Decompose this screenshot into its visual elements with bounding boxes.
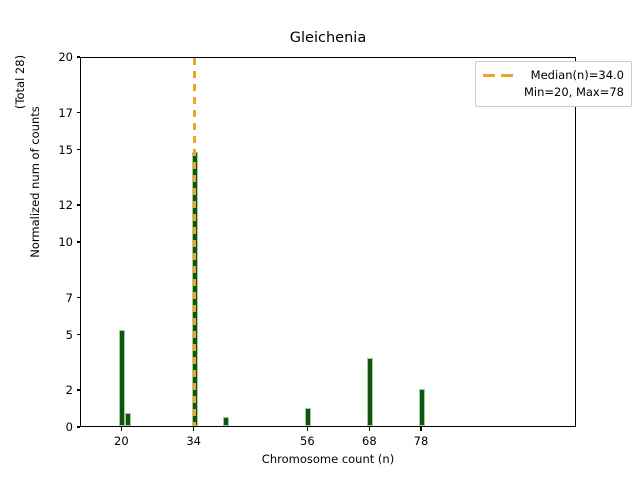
y-axis-label: Normalized num of counts — [28, 0, 42, 367]
x-tick-label: 56 — [277, 433, 337, 449]
y-tick-mark — [77, 56, 81, 57]
y-tick-label: 17 — [58, 105, 73, 121]
y-tick-mark — [77, 112, 81, 113]
x-tick-mark — [307, 427, 308, 431]
legend-entry-median: Median(n)=34.0 Min=20, Max=78 — [483, 67, 624, 100]
y-tick-label: 5 — [66, 327, 73, 343]
dashed-line-icon — [483, 68, 516, 84]
chart-title: Gleichenia — [80, 29, 576, 47]
y-tick-label: 20 — [58, 49, 73, 65]
y-tick-mark — [77, 241, 81, 242]
legend-label-median: Median(n)=34.0 — [531, 67, 624, 84]
median-line — [193, 58, 196, 426]
chart-figure: Gleichenia 02571012151720 Normalized num… — [0, 0, 640, 480]
y-tick-label: 2 — [66, 382, 73, 398]
y-tick-label: 7 — [66, 290, 73, 306]
y-tick-mark — [77, 297, 81, 298]
bar — [125, 413, 131, 426]
bar — [419, 389, 425, 426]
bar — [119, 330, 125, 426]
bar — [223, 417, 229, 426]
y-tick-label: 15 — [58, 142, 73, 158]
x-tick-label: 20 — [91, 433, 151, 449]
x-tick-label: 34 — [164, 433, 224, 449]
y-tick-label: 0 — [66, 419, 73, 435]
x-axis-label: Chromosome count (n) — [80, 452, 576, 466]
bar — [305, 408, 311, 427]
y-axis-total-label: (Total 28) — [13, 7, 27, 157]
x-tick-label: 78 — [391, 433, 451, 449]
y-tick-mark — [77, 389, 81, 390]
x-tick-mark — [420, 427, 421, 431]
legend-labels: Median(n)=34.0 Min=20, Max=78 — [524, 67, 624, 100]
x-tick-mark — [121, 427, 122, 431]
y-tick-mark — [77, 149, 81, 150]
y-tick-label: 10 — [58, 234, 73, 250]
legend: Median(n)=34.0 Min=20, Max=78 — [475, 61, 632, 107]
plot-area — [80, 57, 576, 427]
bar — [367, 358, 373, 426]
x-tick-mark — [193, 427, 194, 431]
legend-label-minmax: Min=20, Max=78 — [524, 84, 624, 101]
y-tick-mark — [77, 334, 81, 335]
y-tick-mark — [77, 204, 81, 205]
y-tick-label: 12 — [58, 197, 73, 213]
x-tick-mark — [369, 427, 370, 431]
